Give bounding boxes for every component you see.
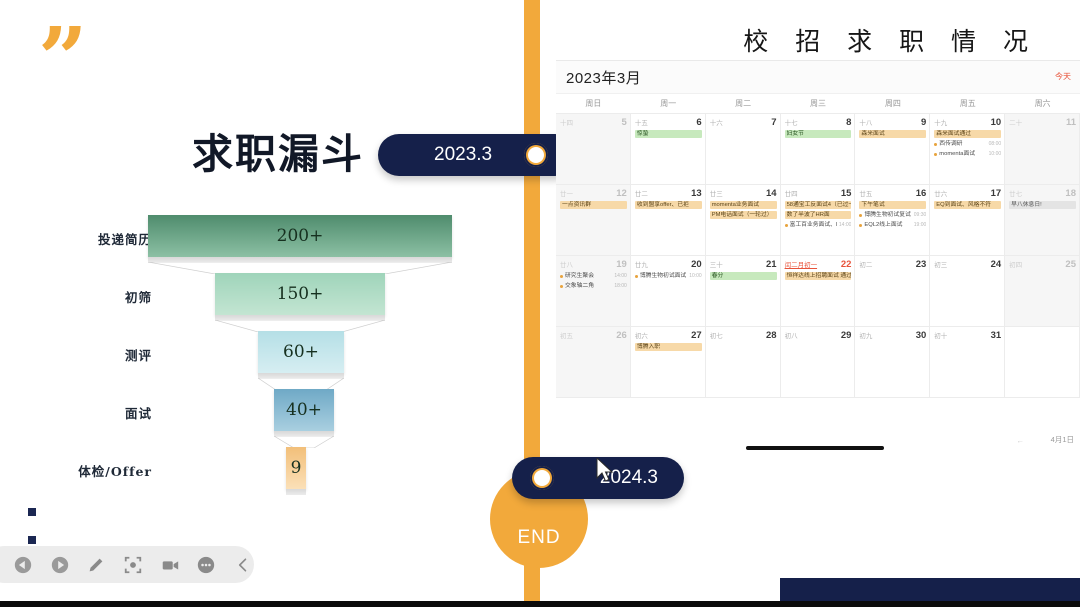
calendar-month-title: 2023年3月	[566, 67, 641, 88]
calendar-day-header: 十七8	[785, 117, 852, 128]
bottom-black-bar	[0, 601, 1080, 607]
calendar-day-cell[interactable]: 廿四1558通宝工反面试4（已过一轮）数了半波了HR面富工百业务面试、HR…14…	[781, 185, 856, 256]
calendar-day-header: 十五6	[635, 117, 702, 128]
calendar-event-time: 10:00	[689, 272, 702, 280]
calendar-day-lunar: 十七	[785, 117, 798, 127]
calendar-event-time: 19:00	[914, 221, 927, 229]
page-title: 求职漏斗	[192, 120, 364, 180]
calendar-day-number: 24	[991, 259, 1002, 270]
funnel-stage-label: 测评	[60, 345, 152, 364]
calendar-prev-arrow[interactable]: ←	[1017, 436, 1025, 445]
calendar-day-lunar: 廿四	[785, 188, 798, 198]
calendar-day-lunar: 十六	[710, 117, 723, 127]
calendar-day-lunar: 廿三	[710, 188, 723, 198]
calendar-day-header: 初四25	[1009, 259, 1076, 270]
calendar-day-number: 17	[991, 188, 1002, 199]
calendar-day-number: 29	[841, 330, 852, 341]
calendar-day-header: 十四5	[560, 117, 627, 128]
calendar-day-lunar: 初十	[934, 330, 947, 340]
calendar-day-lunar: 廿九	[635, 259, 648, 269]
calendar-day-lunar: 廿六	[934, 188, 947, 198]
calendar-event-bar[interactable]: PM电话面试（一轮过）	[710, 211, 777, 219]
calendar-day-number: 13	[691, 188, 702, 199]
calendar-day-cell[interactable]: 初五26	[556, 327, 631, 398]
funnel-stage-label: 初筛	[60, 287, 152, 306]
calendar-day-cell[interactable]: 初六27博腾入职	[631, 327, 706, 398]
calendar-day-number: 15	[841, 188, 852, 199]
calendar-event-bar[interactable]: EQ到面试、风格不符	[934, 201, 1001, 209]
video-camera-icon[interactable]	[159, 554, 181, 576]
calendar-day-number: 11	[1066, 117, 1076, 128]
calendar-day-number: 28	[766, 330, 777, 341]
calendar-event-bar[interactable]: momenta业务面试	[710, 201, 777, 209]
calendar-weekday: 周日	[556, 94, 631, 113]
funnel-stage-label: 面试	[60, 403, 152, 422]
calendar-event-time: 10:00	[989, 150, 1002, 158]
funnel-stage-label: 投递简历	[60, 229, 152, 248]
funnel-stage: 测评 60+	[60, 331, 480, 389]
calendar-day-lunar: 十四	[560, 117, 573, 127]
calendar-event-item[interactable]: EQL2线上面试19:00	[859, 221, 926, 229]
funnel-stage-bar: 9	[286, 447, 306, 489]
calendar-day-cell[interactable]: 廿七18早八休息日!	[1005, 185, 1080, 256]
focus-icon[interactable]	[122, 554, 144, 576]
calendar-day-lunar: 初八	[785, 330, 798, 340]
calendar-day-lunar: 廿七	[1009, 188, 1022, 198]
calendar-event-bar[interactable]: 数了半波了HR面	[785, 211, 852, 219]
calendar-next-month-note: 4月1日	[1051, 434, 1074, 445]
calendar-event-item[interactable]: 富工百业务面试、HR…14:00	[785, 221, 852, 229]
calendar-day-number: 20	[691, 259, 702, 270]
calendar-event-bar[interactable]: 森米面试	[859, 130, 926, 138]
calendar-day-cell[interactable]: 廿一12一点资讯群	[556, 185, 631, 256]
calendar-day-lunar: 三十	[710, 259, 723, 269]
calendar-day-header: 廿八19	[560, 259, 627, 270]
calendar-event-bar[interactable]: 下午笔试	[859, 201, 926, 209]
calendar-day-lunar: 初六	[635, 330, 648, 340]
calendar-day-header: 廿六17	[934, 188, 1001, 199]
calendar-event-title: 西传调研	[939, 140, 986, 148]
funnel-stage: 面试 40+	[60, 389, 480, 447]
selection-handle[interactable]	[28, 508, 36, 516]
calendar-weekday: 周六	[1005, 94, 1080, 113]
quote-mark-icon: ”	[38, 26, 83, 95]
calendar-day-lunar: 二十	[1009, 117, 1022, 127]
calendar-event-item[interactable]: 博腾生物初试复试（通过）09:30	[859, 211, 926, 219]
calendar-event-bar[interactable]: 早八休息日!	[1009, 201, 1076, 209]
calendar-event-title: 博腾生物初试复试（通过）	[864, 211, 911, 219]
calendar-day-cell[interactable]: 廿二13收到盟享offer、已拒	[631, 185, 706, 256]
calendar-day-cell[interactable]: 初三24	[930, 256, 1005, 327]
calendar-event-item[interactable]: 西传调研08:00	[934, 140, 1001, 148]
calendar-day-header: 初八29	[785, 330, 852, 341]
timeline-start-knob[interactable]	[521, 140, 551, 170]
calendar-weekday: 周一	[631, 94, 706, 113]
calendar-day-number: 6	[696, 117, 701, 128]
calendar-day-number: 19	[616, 259, 627, 270]
previous-icon[interactable]	[12, 554, 34, 576]
calendar-day-number: 10	[991, 117, 1002, 128]
calendar-event-time: 18:00	[614, 282, 627, 290]
calendar-day-header: 初三24	[934, 259, 1001, 270]
calendar-day-header: 廿四15	[785, 188, 852, 199]
calendar-event-bar[interactable]: 一点资讯群	[560, 201, 627, 209]
calendar-event-title: momenta面试	[939, 150, 986, 158]
calendar-day-cell[interactable]: 廿五16下午笔试博腾生物初试复试（通过）09:30EQL2线上面试19:00	[855, 185, 930, 256]
calendar-event-bar[interactable]: 58通宝工反面试4（已过一轮）	[785, 201, 852, 209]
funnel-bar-shadow	[286, 489, 306, 495]
calendar-weekday: 周二	[706, 94, 781, 113]
calendar-day-number: 12	[616, 188, 627, 199]
calendar-day-lunar: 初七	[710, 330, 723, 340]
calendar-event-item[interactable]: 博腾生物初试面试10:00	[635, 272, 702, 280]
calendar-day-number: 21	[766, 259, 777, 270]
event-dot-icon	[635, 275, 638, 278]
calendar-day-number: 25	[1065, 259, 1076, 270]
calendar-scrollbar[interactable]	[746, 446, 884, 450]
calendar-day-cell[interactable]: 初七28	[706, 327, 781, 398]
calendar-day-lunar: 初三	[934, 259, 947, 269]
calendar-day-lunar: 十八	[859, 117, 872, 127]
calendar-day-number: 18	[1065, 188, 1076, 199]
calendar-day-cell[interactable]	[1005, 327, 1080, 398]
calendar-day-cell[interactable]: 初九30	[855, 327, 930, 398]
calendar-weekday: 周三	[781, 94, 856, 113]
calendar-day-cell[interactable]: 初四25	[1005, 256, 1080, 327]
calendar-event-bar[interactable]: 森米面试通过	[934, 130, 1001, 138]
calendar-day-cell[interactable]: 廿九20博腾生物初试面试10:00	[631, 256, 706, 327]
calendar-day-number: 16	[916, 188, 927, 199]
calendar-day-lunar: 初九	[859, 330, 872, 340]
calendar-weekday-header: 周日周一周二周三周四周五周六	[556, 94, 1080, 113]
calendar-event-bar[interactable]: 春分	[710, 272, 777, 280]
calendar-day-number: 23	[916, 259, 927, 270]
event-dot-icon	[560, 275, 563, 278]
calendar-day-cell[interactable]: 十七8妇女节	[781, 114, 856, 185]
mouse-cursor-icon	[596, 458, 614, 484]
calendar-day-lunar: 廿二	[635, 188, 648, 198]
funnel-stage: 体检/Offer 9	[60, 447, 480, 505]
calendar-day-header: 廿三14	[710, 188, 777, 199]
calendar-day-header: 廿七18	[1009, 188, 1076, 199]
event-dot-icon	[934, 153, 937, 156]
calendar-event-title: 富工百业务面试、HR…	[790, 221, 837, 229]
calendar-day-header: 廿一12	[560, 188, 627, 199]
pencil-icon[interactable]	[85, 554, 107, 576]
bottom-navy-bar	[780, 578, 1080, 601]
calendar-day-header: 二十11	[1009, 117, 1076, 128]
event-dot-icon	[859, 224, 862, 227]
calendar-day-lunar: 廿一	[560, 188, 573, 198]
calendar-day-lunar: 十五	[635, 117, 648, 127]
calendar-today-button[interactable]: 今天	[1055, 71, 1071, 82]
calendar-day-number: 7	[771, 117, 776, 128]
calendar-day-number: 30	[916, 330, 927, 341]
calendar-day-header: 十八9	[859, 117, 926, 128]
event-dot-icon	[560, 285, 563, 288]
calendar-day-lunar: 廿五	[859, 188, 872, 198]
calendar-day-cell[interactable]: 十六7	[706, 114, 781, 185]
calendar-weekday: 周四	[855, 94, 930, 113]
calendar-day-cell[interactable]: 二十11	[1005, 114, 1080, 185]
event-dot-icon	[785, 224, 788, 227]
funnel-stage-bar: 200+	[148, 215, 452, 257]
selection-handle[interactable]	[28, 536, 36, 544]
calendar-day-header: 三十21	[710, 259, 777, 270]
funnel-chart: 投递简历 200+ 初筛 150+ 测评 60+	[60, 215, 480, 505]
funnel-stage: 投递简历 200+	[60, 215, 480, 273]
calendar-day-cell[interactable]: 闰二月初一22恒祥达线上招聘面试 通过	[781, 256, 856, 327]
calendar-day-lunar: 初四	[1009, 259, 1022, 269]
calendar-day-lunar: 初五	[560, 330, 573, 340]
calendar-event-time: 09:30	[914, 211, 927, 219]
calendar-day-header: 廿五16	[859, 188, 926, 199]
calendar-event-time: 14:00	[614, 272, 627, 280]
calendar-day-lunar: 闰二月初一	[785, 259, 818, 269]
calendar-day-number: 5	[622, 117, 627, 128]
calendar-day-cell[interactable]: 十五6惊蛰	[631, 114, 706, 185]
calendar-day-header: 初七28	[710, 330, 777, 341]
calendar-day-cell[interactable]: 十四5	[556, 114, 631, 185]
right-section-title: 校 招 求 职 情 况	[743, 22, 1038, 58]
calendar-day-cell[interactable]: 十八9森米面试	[855, 114, 930, 185]
calendar-day-header: 廿九20	[635, 259, 702, 270]
calendar-day-cell[interactable]: 廿八19研究生聚会14:00交象轴二角18:00	[556, 256, 631, 327]
calendar-event-title: EQL2线上面试	[864, 221, 911, 229]
calendar-day-number: 14	[766, 188, 777, 199]
funnel-stage-bar: 150+	[215, 273, 385, 315]
calendar-day-header: 闰二月初一22	[785, 259, 852, 270]
calendar-day-number: 8	[846, 117, 851, 128]
calendar-day-lunar: 廿八	[560, 259, 573, 269]
calendar-day-header: 初六27	[635, 330, 702, 341]
calendar-day-number: 9	[921, 117, 926, 128]
calendar-event-time: 14:00	[839, 221, 852, 229]
calendar-event-time: 08:00	[989, 140, 1002, 148]
calendar-day-cell[interactable]: 三十21春分	[706, 256, 781, 327]
slide-canvas: ” 求职漏斗 投递简历 200+ 初筛 150+	[0, 0, 1080, 607]
timeline-end-knob[interactable]	[527, 463, 557, 493]
funnel-stage: 初筛 150+	[60, 273, 480, 331]
calendar-event-bar[interactable]: 惊蛰	[635, 130, 702, 138]
calendar-header: 2023年3月 今天	[556, 61, 1080, 94]
calendar-weekday: 周五	[930, 94, 1005, 113]
calendar-event-item[interactable]: 研究生聚会14:00	[560, 272, 627, 280]
calendar-day-number: 31	[991, 330, 1002, 341]
more-icon[interactable]	[196, 554, 218, 576]
calendar-day-lunar: 十九	[934, 117, 947, 127]
calendar-event-bar[interactable]: 博腾入职	[635, 343, 702, 351]
calendar-day-cell[interactable]: 初八29	[781, 327, 856, 398]
calendar-day-grid: 十四5十五6惊蛰十六7十七8妇女节十八9森米面试十九10森米面试通过西传调研08…	[556, 113, 1080, 398]
calendar-day-number: 26	[616, 330, 627, 341]
left-slide-panel: ” 求职漏斗 投递简历 200+ 初筛 150+	[0, 0, 520, 570]
funnel-stage-bar: 40+	[274, 389, 334, 431]
calendar-event-title: 研究生聚会	[565, 272, 612, 280]
calendar-day-header: 初二23	[859, 259, 926, 270]
timeline-start-label: 2023.3	[434, 144, 492, 166]
timeline-end-badge-label: END	[517, 527, 560, 549]
calendar-event-title: 交象轴二角	[565, 282, 612, 290]
event-dot-icon	[859, 214, 862, 217]
calendar-day-lunar: 初二	[859, 259, 872, 269]
calendar-event-item[interactable]: 交象轴二角18:00	[560, 282, 627, 290]
calendar-event-bar[interactable]: 恒祥达线上招聘面试 通过	[785, 272, 852, 280]
calendar-day-number: 27	[691, 330, 702, 341]
collapse-icon[interactable]	[232, 554, 254, 576]
calendar-day-header: 初十31	[934, 330, 1001, 341]
calendar-day-cell[interactable]: 廿三14momenta业务面试PM电话面试（一轮过）	[706, 185, 781, 256]
funnel-stage-bar: 60+	[258, 331, 344, 373]
calendar-day-header: 廿二13	[635, 188, 702, 199]
calendar-day-header: 初五26	[560, 330, 627, 341]
funnel-stage-label: 体检/Offer	[60, 461, 152, 480]
calendar-event-bar[interactable]: 收到盟享offer、已拒	[635, 201, 702, 209]
calendar-day-cell[interactable]: 初十31	[930, 327, 1005, 398]
calendar-day-header: 十六7	[710, 117, 777, 128]
event-dot-icon	[934, 143, 937, 146]
calendar-day-number: 22	[841, 259, 852, 270]
calendar-event-item[interactable]: momenta面试10:00	[934, 150, 1001, 158]
play-icon[interactable]	[49, 554, 71, 576]
calendar-day-header: 初九30	[859, 330, 926, 341]
calendar-day-cell[interactable]: 廿六17EQ到面试、风格不符	[930, 185, 1005, 256]
calendar-day-header: 十九10	[934, 117, 1001, 128]
calendar-day-cell[interactable]: 十九10森米面试通过西传调研08:00momenta面试10:00	[930, 114, 1005, 185]
calendar-event-title: 博腾生物初试面试	[640, 272, 687, 280]
calendar-day-cell[interactable]: 初二23	[855, 256, 930, 327]
calendar-event-bar[interactable]: 妇女节	[785, 130, 852, 138]
calendar-widget: 2023年3月 今天 周日周一周二周三周四周五周六 十四5十五6惊蛰十六7十七8…	[556, 60, 1080, 455]
presentation-toolbar	[0, 546, 254, 583]
